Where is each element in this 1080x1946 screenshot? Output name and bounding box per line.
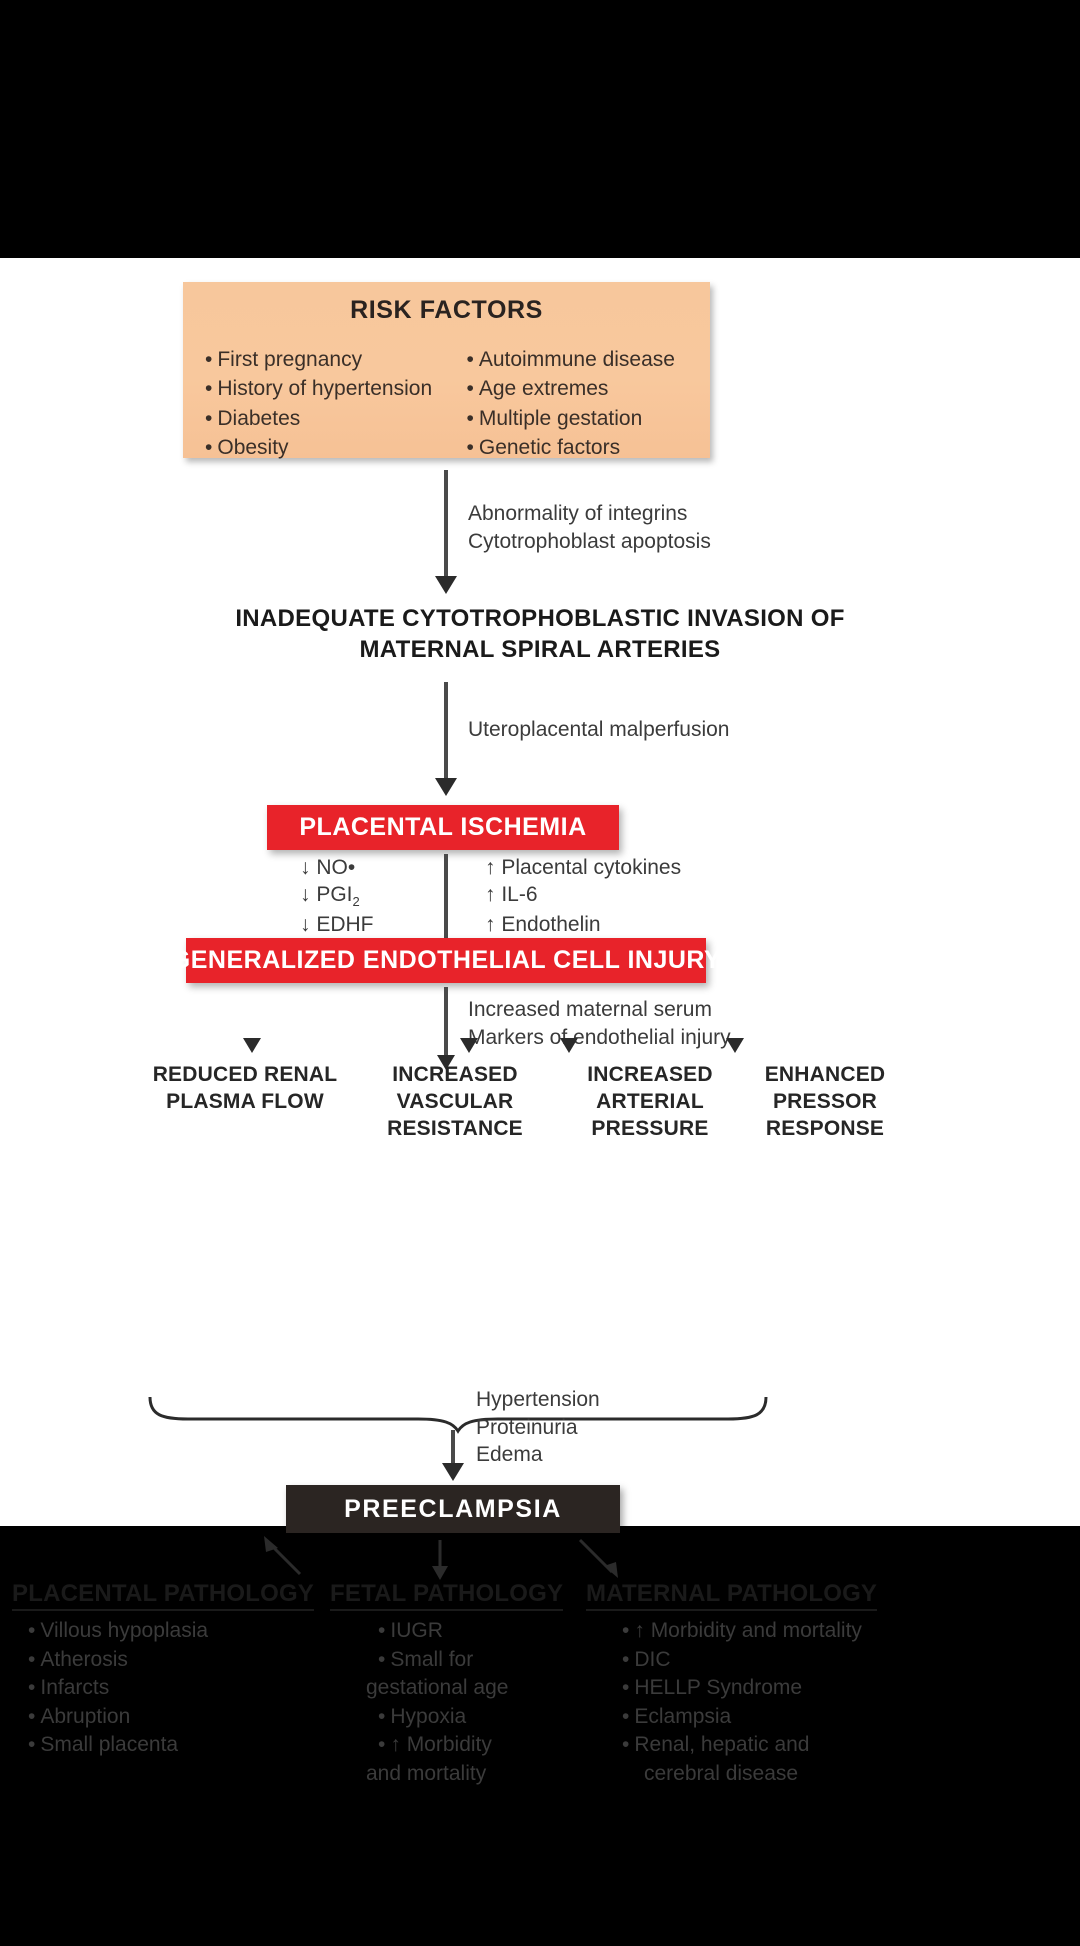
list-item: •Small placenta	[12, 1731, 332, 1760]
endothelial-injury-banner: GENERALIZED ENDOTHELIAL CELL INJURY	[186, 938, 706, 983]
connector-line-2	[444, 682, 448, 782]
inadequate-invasion-heading: INADEQUATE CYTOTROPHOBLASTIC INVASION OF…	[0, 603, 1080, 665]
endothelial-injury-label: GENERALIZED ENDOTHELIAL CELL INJURY	[171, 946, 721, 975]
mediator-row: ↓ EDHF ↑ Endothelin	[300, 911, 770, 938]
maternal-pathology-column: MATERNAL PATHOLOGY •↑ Morbidity and mort…	[586, 1580, 886, 1788]
mediator-row: ↓ NO• ↑ Placental cytokines	[300, 854, 770, 881]
bullet-icon: •	[467, 436, 474, 459]
list-item: •Obesity	[205, 433, 449, 462]
diagram-canvas: RISK FACTORS •First pregnancy •History o…	[0, 258, 1080, 1526]
connector-4-text: Hypertension Proteinuria Edema	[476, 1386, 600, 1469]
placental-pathology-title: PLACENTAL PATHOLOGY	[12, 1580, 314, 1611]
fetal-pathology-column: FETAL PATHOLOGY •IUGR •Small for gestati…	[330, 1580, 580, 1788]
arrow-down-icon-outcome-3	[560, 1038, 578, 1053]
risk-factors-columns: •First pregnancy •History of hypertensio…	[183, 325, 710, 463]
connector-3-text: Increased maternal serum Markers of endo…	[468, 996, 731, 1051]
bullet-icon: •	[205, 436, 212, 459]
risk-factors-title: RISK FACTORS	[183, 282, 710, 325]
mediators-grid: ↓ NO• ↑ Placental cytokines ↓ PGI2 ↑ IL-…	[300, 854, 770, 939]
outcome-column-enhanced-pressor-response: ENHANCED PRESSOR RESPONSE	[735, 1062, 915, 1143]
connector-2-text: Uteroplacental malperfusion	[468, 716, 729, 744]
bullet-icon: •	[622, 1705, 629, 1728]
list-item: •Infarcts	[12, 1674, 332, 1703]
bullet-icon: •	[205, 348, 212, 371]
outcome-distribution-bar	[206, 1018, 796, 1021]
arrow-down-icon-outcome-2	[460, 1038, 478, 1053]
bullet-icon: •	[378, 1705, 385, 1728]
list-item: •History of hypertension	[205, 374, 449, 403]
outcome-column-increased-vascular-resistance: INCREASED VASCULAR RESISTANCE	[355, 1062, 555, 1143]
list-item: and mortality	[330, 1760, 580, 1789]
mediator-left: ↓ EDHF	[300, 911, 485, 938]
connector-line-3	[444, 854, 448, 938]
list-item: •Autoimmune disease	[467, 345, 711, 374]
mediator-left: ↓ NO•	[300, 854, 485, 881]
mediator-right: ↑ Placental cytokines	[485, 854, 681, 881]
list-item: •HELLP Syndrome	[586, 1674, 886, 1703]
list-item: •DIC	[586, 1646, 886, 1675]
bullet-icon: •	[467, 377, 474, 400]
list-item: gestational age	[330, 1674, 580, 1703]
mediator-right: ↑ IL-6	[485, 881, 538, 911]
bullet-icon: •	[28, 1619, 35, 1642]
placental-ischemia-label: PLACENTAL ISCHEMIA	[299, 813, 586, 842]
arrow-down-icon-4	[442, 1463, 464, 1481]
list-item: •↑ Morbidity and mortality	[586, 1617, 886, 1646]
list-item: •Age extremes	[467, 374, 711, 403]
mediator-row: ↓ PGI2 ↑ IL-6	[300, 881, 770, 911]
outcome-column-increased-arterial-pressure: INCREASED ARTERIAL PRESSURE	[560, 1062, 740, 1143]
arrow-down-icon-outcome-4	[726, 1038, 744, 1053]
outcome-column-reduced-renal-plasma-flow: REDUCED RENAL PLASMA FLOW	[130, 1062, 360, 1116]
preeclampsia-banner: PREECLAMPSIA	[286, 1485, 620, 1533]
list-item: •Genetic factors	[467, 433, 711, 462]
bullet-icon: •	[28, 1705, 35, 1728]
arrow-down-icon-2	[435, 778, 457, 796]
list-item: •Atherosis	[12, 1646, 332, 1675]
preeclampsia-branch-arrows	[240, 1534, 660, 1580]
placental-ischemia-banner: PLACENTAL ISCHEMIA	[267, 805, 619, 850]
maternal-pathology-title: MATERNAL PATHOLOGY	[586, 1580, 877, 1611]
list-item: •Eclampsia	[586, 1703, 886, 1732]
bullet-icon: •	[622, 1648, 629, 1671]
bullet-icon: •	[28, 1676, 35, 1699]
bullet-icon: •	[378, 1733, 385, 1756]
list-item: •Diabetes	[205, 404, 449, 433]
list-item: •First pregnancy	[205, 345, 449, 374]
arrow-down-icon-1	[435, 576, 457, 594]
bullet-icon: •	[28, 1648, 35, 1671]
bullet-icon: •	[467, 407, 474, 430]
risk-factors-box: RISK FACTORS •First pregnancy •History o…	[183, 282, 710, 458]
outcomes-brace	[148, 1397, 768, 1431]
subscript: 2	[353, 894, 360, 909]
arrow-down-icon-outcome-1	[243, 1038, 261, 1053]
bullet-icon: •	[205, 407, 212, 430]
bullet-icon: •	[378, 1648, 385, 1671]
connector-line-4	[444, 987, 448, 1061]
placental-pathology-column: PLACENTAL PATHOLOGY •Villous hypoplasia …	[12, 1580, 332, 1760]
connector-line-1	[444, 470, 448, 580]
list-item: •Small for	[330, 1646, 580, 1675]
mediator-right: ↑ Endothelin	[485, 911, 601, 938]
connector-1-text: Abnormality of integrins Cytotrophoblast…	[468, 500, 711, 555]
bullet-icon: •	[622, 1619, 629, 1642]
bullet-icon: •	[622, 1733, 629, 1756]
mediator-left: ↓ PGI2	[300, 881, 485, 911]
bullet-icon: •	[622, 1676, 629, 1699]
list-item: •Renal, hepatic and	[586, 1731, 886, 1760]
list-item: •Hypoxia	[330, 1703, 580, 1732]
list-item: •Abruption	[12, 1703, 332, 1732]
list-item: •Villous hypoplasia	[12, 1617, 332, 1646]
fetal-pathology-title: FETAL PATHOLOGY	[330, 1580, 563, 1611]
preeclampsia-label: PREECLAMPSIA	[344, 1495, 562, 1524]
list-item: •↑ Morbidity	[330, 1731, 580, 1760]
bullet-icon: •	[205, 377, 212, 400]
list-item: •IUGR	[330, 1617, 580, 1646]
bullet-icon: •	[467, 348, 474, 371]
risk-factors-right-column: •Autoimmune disease •Age extremes •Multi…	[449, 345, 711, 463]
bullet-icon: •	[28, 1733, 35, 1756]
risk-factors-left-column: •First pregnancy •History of hypertensio…	[183, 345, 449, 463]
bullet-icon: •	[378, 1619, 385, 1642]
list-item: cerebral disease	[586, 1760, 886, 1789]
list-item: •Multiple gestation	[467, 404, 711, 433]
